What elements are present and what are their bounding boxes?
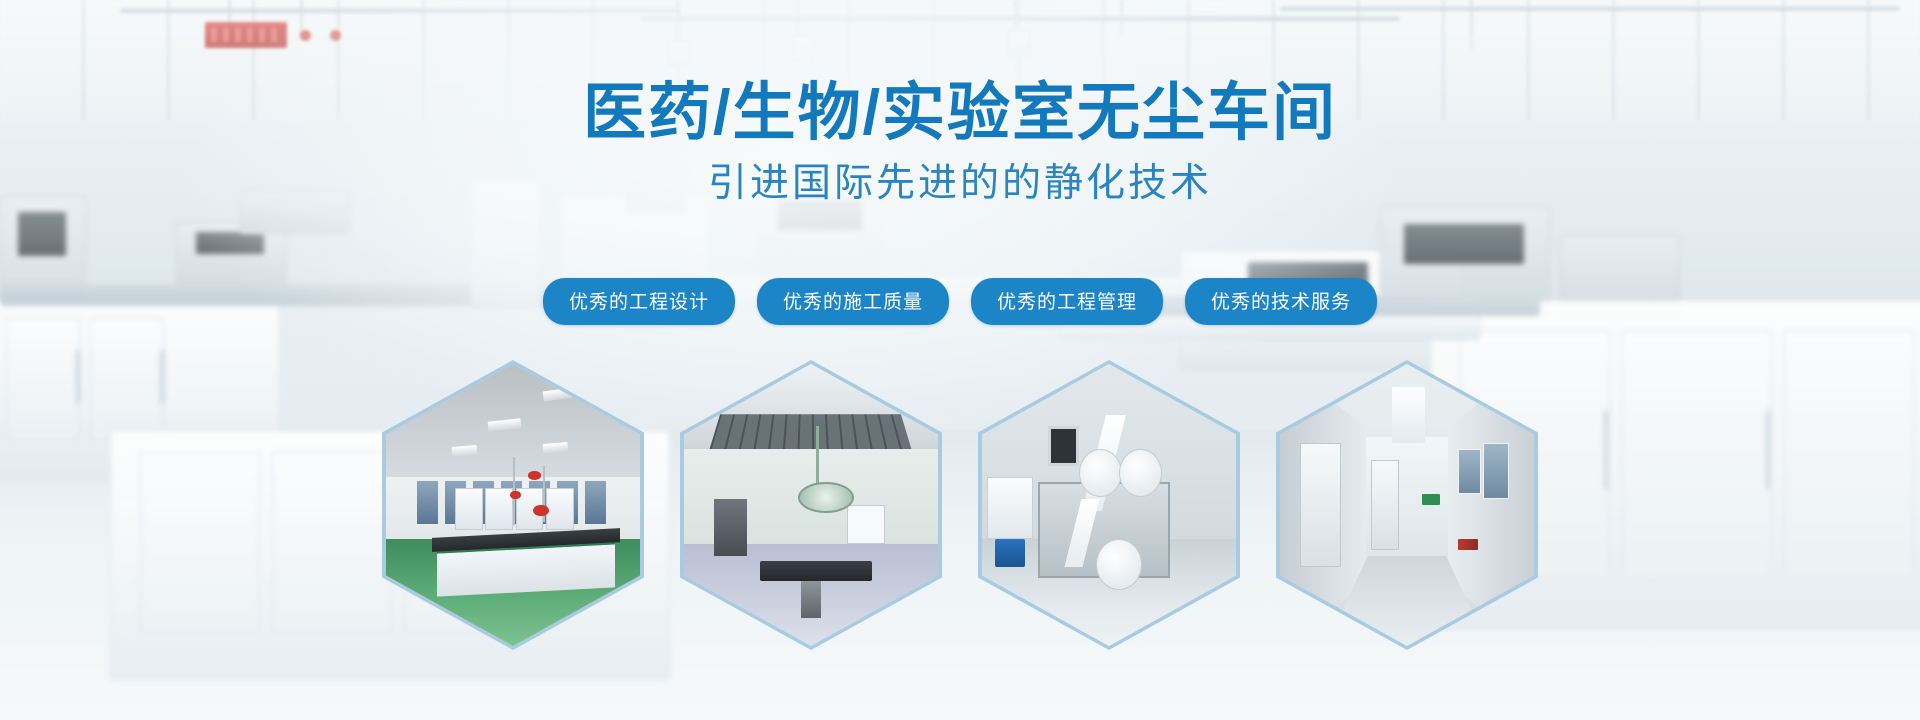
banner-subtitle: 引进国际先进的的静化技术 (0, 152, 1920, 208)
operating-theatre-cleanroom-photo (684, 364, 938, 646)
feature-tag-project-management[interactable]: 优秀的工程管理 (971, 278, 1163, 325)
feature-tag-list: 优秀的工程设计 优秀的施工质量 优秀的工程管理 优秀的技术服务 (0, 278, 1920, 325)
hexagon-gallery (0, 355, 1920, 655)
laboratory-cleanroom-photo (386, 364, 640, 646)
production-line-cleanroom-photo (982, 364, 1236, 646)
banner-title: 医药/生物/实验室无尘车间 (0, 78, 1920, 149)
hexagon-item-operating-theatre[interactable] (680, 360, 942, 650)
feature-tag-engineering-design[interactable]: 优秀的工程设计 (543, 278, 735, 325)
cleanroom-corridor-photo (1280, 364, 1534, 646)
feature-tag-technical-service[interactable]: 优秀的技术服务 (1185, 278, 1377, 325)
hexagon-item-corridor[interactable] (1276, 360, 1538, 650)
feature-tag-construction-quality[interactable]: 优秀的施工质量 (757, 278, 949, 325)
hexagon-item-laboratory[interactable] (382, 360, 644, 650)
hexagon-item-production-line[interactable] (978, 360, 1240, 650)
hero-banner: 医药/生物/实验室无尘车间 引进国际先进的的静化技术 优秀的工程设计 优秀的施工… (0, 0, 1920, 720)
